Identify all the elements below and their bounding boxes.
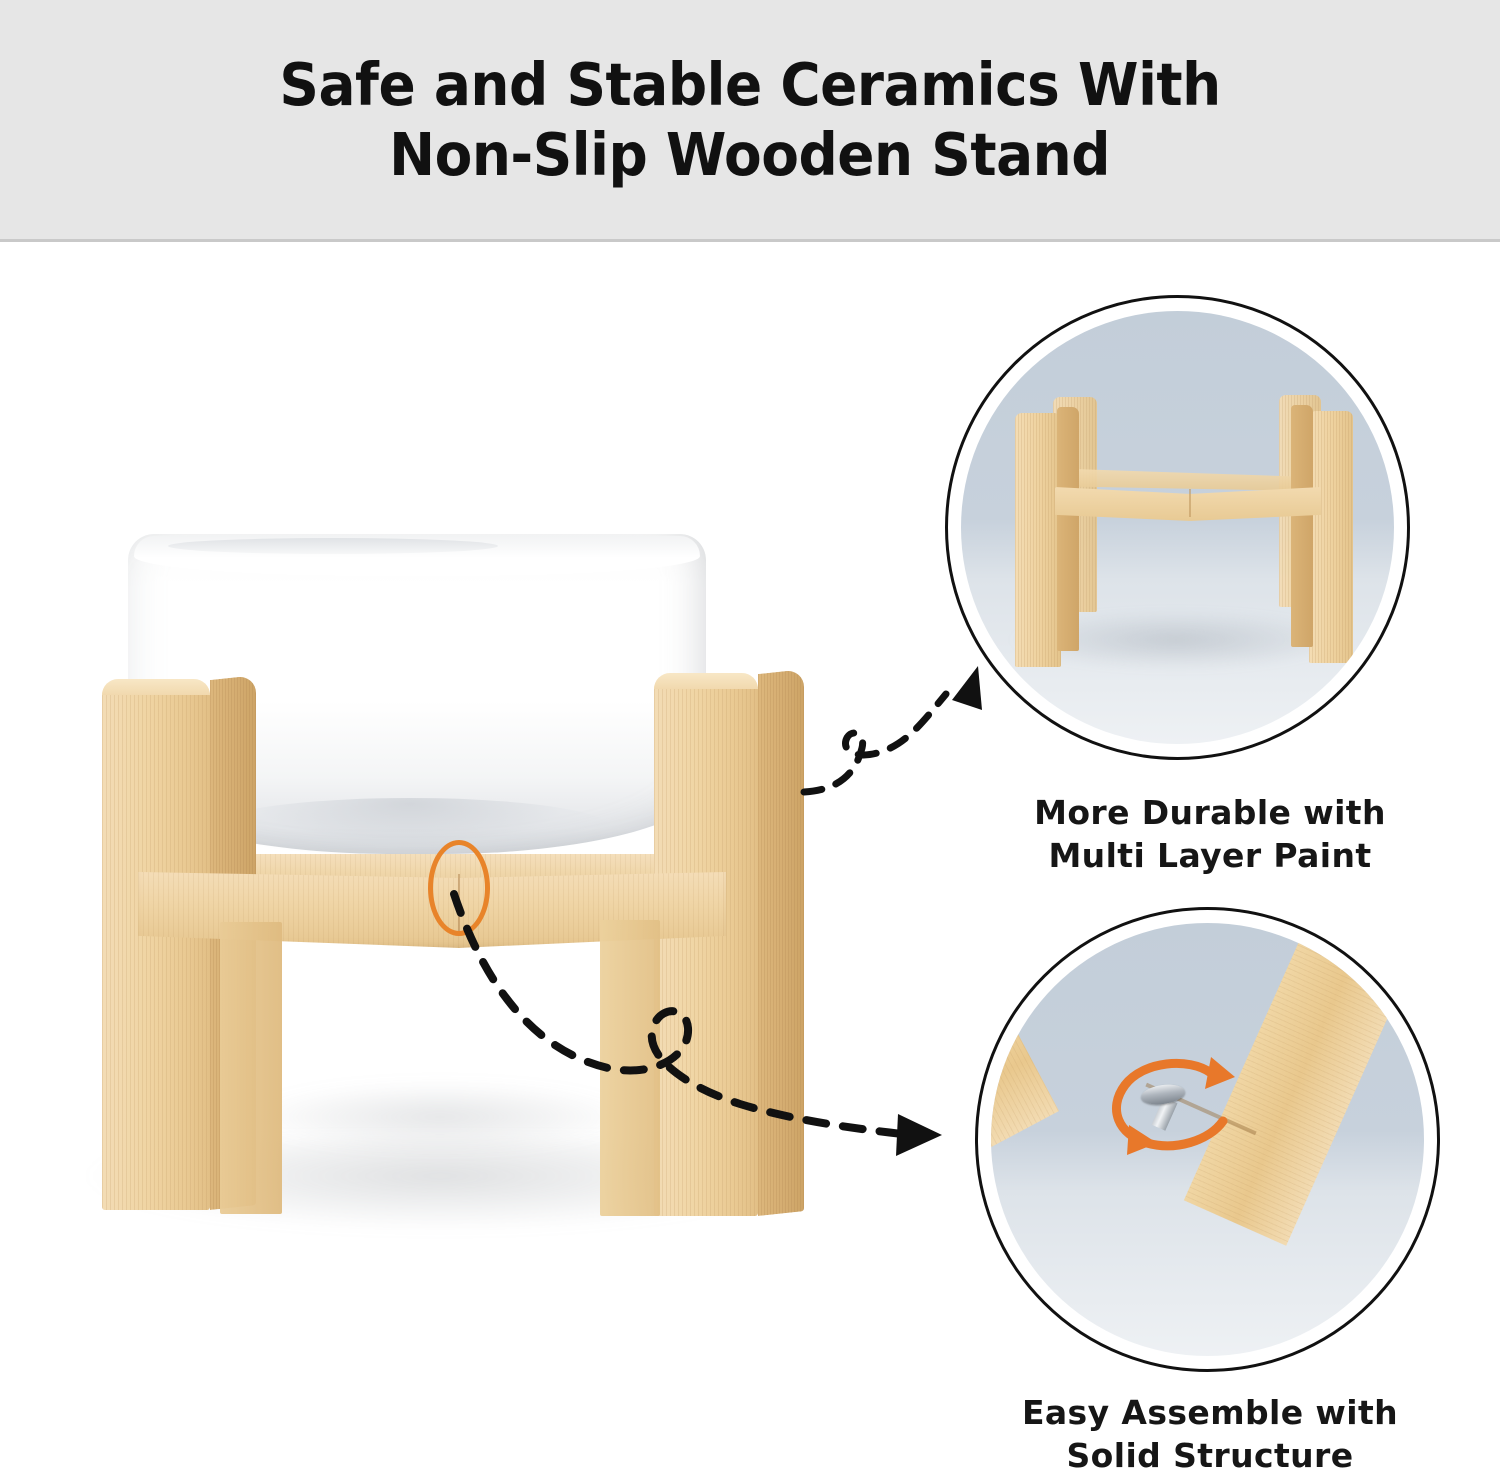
feature-caption-solid-structure: Easy Assemble with Solid Structure <box>980 1392 1440 1478</box>
inset-stand-rail-center-seam <box>1189 489 1191 517</box>
stand-leg-right-top-cap <box>654 673 758 689</box>
rotation-arrow-icon <box>1099 1051 1249 1171</box>
feature-caption-multi-layer-paint: More Durable with Multi Layer Paint <box>980 792 1440 878</box>
bowl-rim-inner-edge <box>168 538 498 554</box>
inset-stand-leg-front-right <box>1309 411 1353 663</box>
bowl-base-shading <box>210 798 610 856</box>
feature-caption-line-2: Solid Structure <box>980 1435 1440 1478</box>
stand-leg-left <box>102 680 210 1210</box>
feature-caption-line-1: Easy Assemble with <box>980 1392 1440 1435</box>
inset-stand-leg-front-left <box>1015 413 1061 667</box>
inset-bamboo-rail-lower <box>991 1005 1059 1313</box>
content-stage: More Durable with Multi Layer Paint Easy… <box>0 242 1500 1464</box>
inset-stand-leg-front-right-side <box>1291 405 1313 647</box>
headline-line-2: Non-Slip Wooden Stand <box>390 120 1111 190</box>
stand-leg-left-front-face <box>102 680 210 1210</box>
feature-caption-line-2: Multi Layer Paint <box>980 835 1440 878</box>
stand-leg-left-top-cap <box>102 679 210 695</box>
headline-line-1: Safe and Stable Ceramics With <box>279 50 1220 120</box>
inset-stand-rail-rear <box>1073 469 1311 491</box>
feature-inset-solid-structure[interactable] <box>975 907 1440 1372</box>
inset-stand-leg-front-left-side <box>1057 407 1079 651</box>
header-banner: Safe and Stable Ceramics With Non-Slip W… <box>0 0 1500 242</box>
connector-to-structure-inset <box>440 882 960 1212</box>
feature-inset-multi-layer-paint[interactable] <box>945 295 1410 760</box>
feature-inset-photo-screw-joint <box>991 923 1424 1356</box>
feature-caption-line-1: More Durable with <box>980 792 1440 835</box>
stand-leg-rear-left <box>220 922 282 1214</box>
feature-inset-photo-bare-stand <box>961 311 1394 744</box>
stand-rail-front-left <box>138 872 460 948</box>
